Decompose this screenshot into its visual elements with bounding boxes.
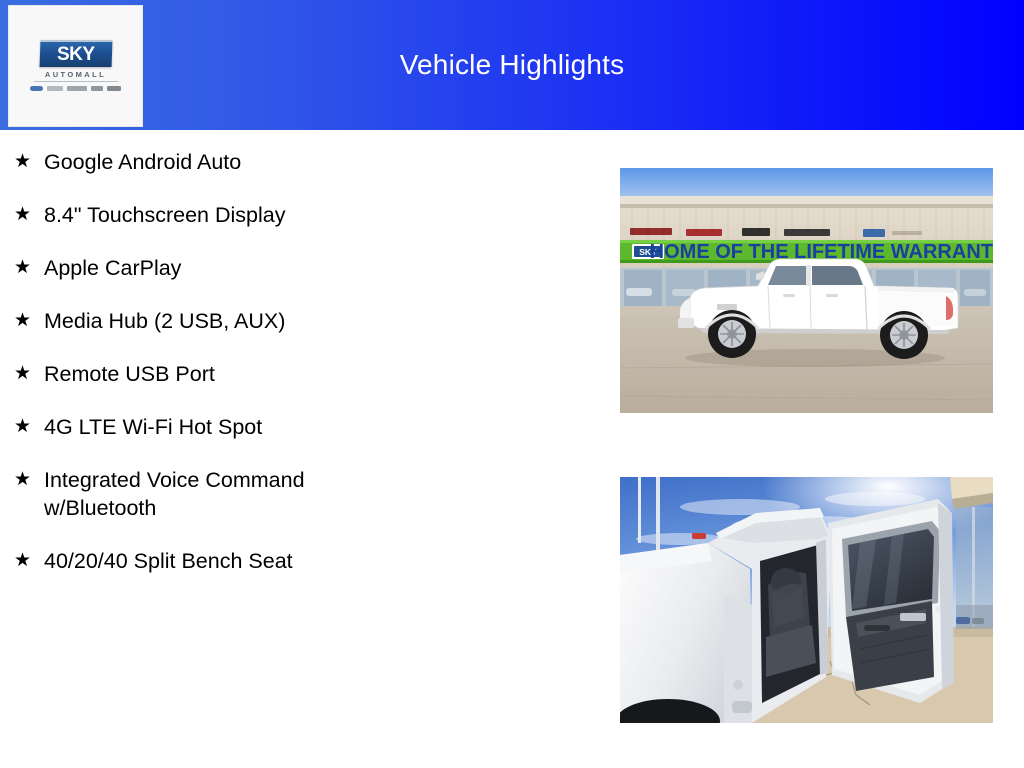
feature-label: Integrated Voice Command w/Bluetooth	[44, 466, 305, 522]
feature-label: Google Android Auto	[44, 148, 241, 176]
dealer-logo-inner: SKY AUTOMALL	[26, 40, 126, 93]
interior-photo-graphic	[620, 477, 993, 723]
chrysler-marque-icon	[30, 86, 43, 91]
dealer-logo[interactable]: SKY AUTOMALL	[8, 5, 143, 127]
star-bullet-icon: ★	[14, 547, 44, 575]
vehicle-features-list: ★ Google Android Auto ★ 8.4" Touchscreen…	[0, 148, 600, 600]
feature-label: 40/20/40 Split Bench Seat	[44, 547, 293, 575]
slide-body: ★ Google Android Auto ★ 8.4" Touchscreen…	[0, 130, 1024, 768]
star-bullet-icon: ★	[14, 254, 44, 282]
star-bullet-icon: ★	[14, 148, 44, 176]
ram-marque-icon	[91, 86, 103, 91]
list-item: ★ 8.4" Touchscreen Display	[0, 201, 600, 229]
list-item: ★ Google Android Auto	[0, 148, 600, 176]
star-bullet-icon: ★	[14, 466, 44, 494]
list-item: ★ Remote USB Port	[0, 360, 600, 388]
feature-label: 8.4" Touchscreen Display	[44, 201, 285, 229]
feature-label: Remote USB Port	[44, 360, 215, 388]
star-bullet-icon: ★	[14, 307, 44, 335]
sky-marque-icon	[107, 86, 121, 91]
jeep-marque-icon	[67, 86, 87, 91]
feature-label: Apple CarPlay	[44, 254, 181, 282]
star-bullet-icon: ★	[14, 360, 44, 388]
list-item: ★ 40/20/40 Split Bench Seat	[0, 547, 600, 575]
list-item: ★ Media Hub (2 USB, AUX)	[0, 307, 600, 335]
page-title: Vehicle Highlights	[0, 0, 1024, 130]
dodge-marque-icon	[47, 86, 63, 91]
list-item: ★ Integrated Voice Command w/Bluetooth	[0, 466, 600, 522]
sky-logo-banner: SKY	[39, 40, 112, 67]
brand-marques-strip	[30, 85, 122, 92]
feature-label: Media Hub (2 USB, AUX)	[44, 307, 285, 335]
star-bullet-icon: ★	[14, 413, 44, 441]
logo-divider	[34, 81, 118, 82]
vehicle-interior-rear-door-photo[interactable]	[620, 477, 993, 723]
list-item: ★ 4G LTE Wi-Fi Hot Spot	[0, 413, 600, 441]
list-item: ★ Apple CarPlay	[0, 254, 600, 282]
automall-logo-text: AUTOMALL	[45, 71, 106, 79]
vehicle-exterior-side-photo[interactable]: SKY HOME OF THE LIFETIME WARRANTY	[620, 168, 993, 413]
star-bullet-icon: ★	[14, 201, 44, 229]
page-header: Vehicle Highlights SKY AUTOMALL	[0, 0, 1024, 130]
exterior-photo-graphic: SKY HOME OF THE LIFETIME WARRANTY	[620, 168, 993, 413]
feature-label: 4G LTE Wi-Fi Hot Spot	[44, 413, 262, 441]
sky-logo-text: SKY	[57, 45, 95, 64]
